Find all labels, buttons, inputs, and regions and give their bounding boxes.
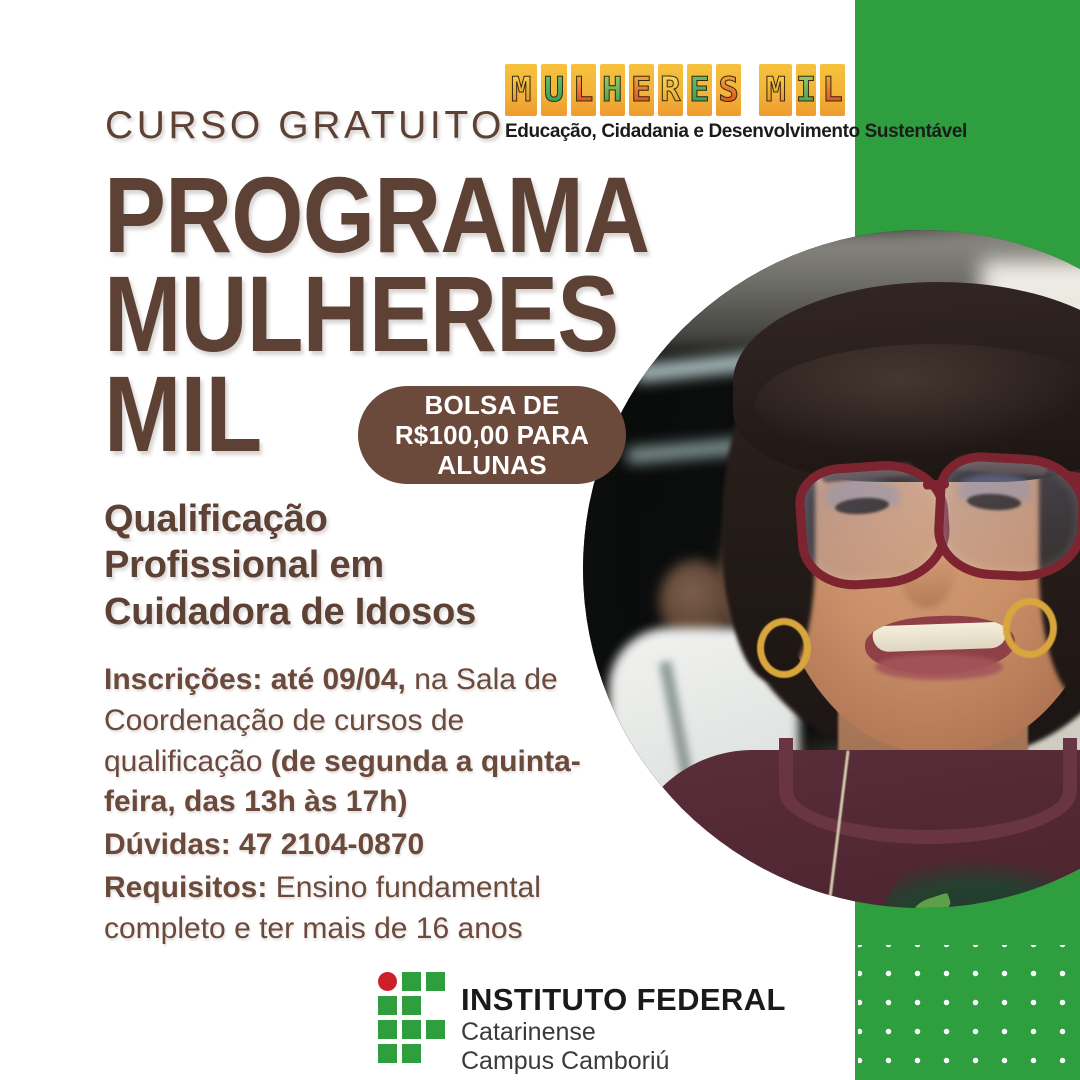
if-logo-square — [402, 972, 421, 991]
dot-pattern-decoration — [858, 945, 1080, 1080]
course-subtitle: Qualificação Profissional em Cuidadora d… — [104, 496, 574, 635]
logo-letter: L — [573, 73, 593, 107]
inscricoes-date: até 09/04, — [271, 663, 406, 696]
badge-line-2: R$100,00 PARA — [395, 420, 589, 450]
course-details: Inscrições: até 09/04, na Sala de Coorde… — [104, 660, 584, 952]
if-logo-square — [402, 1044, 421, 1063]
instituto-federal-logo: INSTITUTO FEDERAL Catarinense Campus Cam… — [378, 972, 786, 1075]
photo-woman-earring-left — [757, 618, 811, 678]
detail-duvidas: Dúvidas: 47 2104-0870 — [104, 825, 584, 866]
inscricoes-label: Inscrições: — [104, 663, 262, 696]
if-logo-gap — [426, 1044, 445, 1063]
requisitos-label: Requisitos: — [104, 871, 267, 904]
logo-tile-l1: L — [571, 64, 596, 116]
logo-letter: M — [511, 73, 531, 107]
page-kicker: CURSO GRATUITO — [105, 104, 505, 148]
if-logo-square — [378, 1044, 397, 1063]
if-logo-square — [402, 996, 421, 1015]
if-logo-square — [426, 1020, 445, 1039]
photo-glasses-bridge — [923, 479, 949, 489]
if-logo-mark — [378, 972, 445, 1063]
mulheres-mil-logo-letters: M U L H E R E S M I L — [505, 60, 845, 116]
poster-canvas: M U L H E R E S M I L Educação, Cidadani… — [0, 0, 1080, 1080]
scholarship-badge-text: BOLSA DE R$100,00 PARA ALUNAS — [395, 390, 589, 480]
logo-letter: E — [689, 73, 709, 107]
logo-tile-l2: L — [820, 64, 845, 116]
logo-tile-m2: M — [759, 64, 791, 116]
logo-letter: E — [631, 73, 651, 107]
page-title-line-2: MULHERES — [104, 264, 586, 363]
if-logo-subtitle-line-2: Campus Camboriú — [461, 1047, 786, 1076]
course-subtitle-line-3: Cuidadora de Idosos — [104, 589, 574, 635]
if-logo-square — [378, 1020, 397, 1039]
if-logo-subtitle: Catarinense Campus Camboriú — [461, 1018, 786, 1075]
logo-tile-u: U — [541, 64, 566, 116]
logo-tile-m1: M — [505, 64, 537, 116]
photo-woman-collar — [779, 738, 1077, 844]
logo-tile-i: I — [796, 64, 816, 116]
if-logo-wordmark: INSTITUTO FEDERAL Catarinense Campus Cam… — [461, 972, 786, 1075]
if-logo-square — [426, 972, 445, 991]
if-logo-square — [402, 1020, 421, 1039]
logo-letter: I — [796, 73, 816, 107]
duvidas-label: Dúvidas: — [104, 828, 231, 861]
photo-woman-teeth — [872, 622, 1007, 653]
logo-letter: U — [544, 73, 564, 107]
if-logo-title: INSTITUTO FEDERAL — [461, 984, 786, 1015]
photo-glasses-right-lens — [932, 450, 1080, 584]
if-logo-subtitle-line-1: Catarinense — [461, 1018, 786, 1047]
logo-letter: R — [660, 73, 680, 107]
mulheres-mil-tagline: Educação, Cidadania e Desenvolvimento Su… — [505, 121, 845, 143]
page-title-line-1: PROGRAMA — [104, 165, 586, 264]
badge-line-1: BOLSA DE — [425, 390, 560, 420]
logo-letter: L — [822, 73, 842, 107]
detail-inscricoes: Inscrições: até 09/04, na Sala de Coorde… — [104, 660, 584, 823]
logo-tile-h: H — [600, 64, 625, 116]
photo-shirt-print — [883, 860, 1080, 908]
scholarship-badge: BOLSA DE R$100,00 PARA ALUNAS — [358, 386, 626, 484]
mulheres-mil-logo: M U L H E R E S M I L Educação, Cidadani… — [505, 60, 845, 143]
photo-woman-earring-right — [1003, 598, 1057, 658]
if-logo-gap — [426, 996, 445, 1015]
if-logo-red-dot — [378, 972, 397, 991]
logo-tile-e2: E — [687, 64, 712, 116]
course-subtitle-line-1: Qualificação — [104, 496, 574, 542]
badge-line-3: ALUNAS — [437, 450, 547, 480]
logo-tile-s: S — [716, 64, 741, 116]
logo-letter: S — [718, 73, 738, 107]
photo-woman-lower-lip — [875, 654, 1003, 680]
logo-tile-space — [745, 64, 755, 116]
course-subtitle-line-2: Profissional em — [104, 542, 574, 588]
duvidas-value: 47 2104-0870 — [231, 828, 425, 861]
detail-requisitos: Requisitos: Ensino fundamental completo … — [104, 868, 584, 950]
logo-letter: H — [602, 73, 622, 107]
logo-tile-e1: E — [629, 64, 654, 116]
logo-letter: M — [765, 73, 785, 107]
logo-tile-r: R — [658, 64, 683, 116]
if-logo-square — [378, 996, 397, 1015]
